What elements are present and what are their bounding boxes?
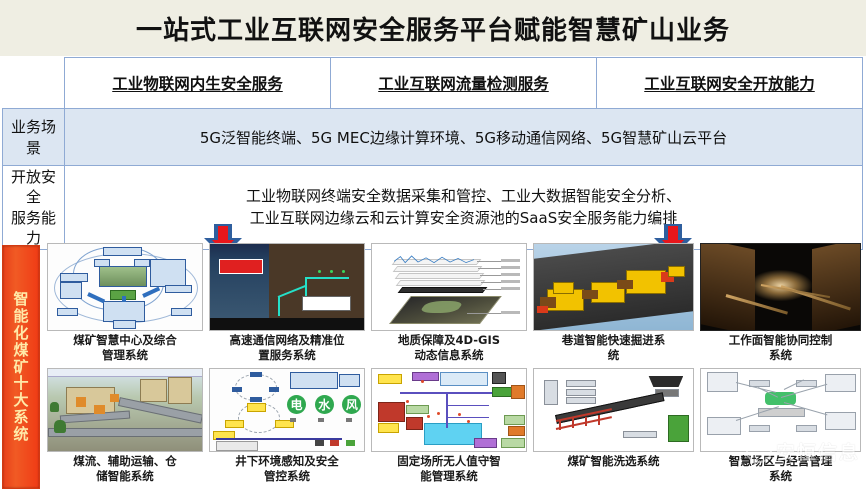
thumb-coal-washing[interactable] [533, 368, 694, 452]
gallery-item-smart-park[interactable]: 智慧场区与经营管理 系统 [697, 368, 864, 488]
gallery-item-comm-network[interactable]: 高速通信网络及精准位 置服务系统 [206, 243, 368, 368]
caption-geology-gis-line2: 动态信息系统 [368, 348, 530, 363]
slide-root: 一站式工业互联网安全服务平台赋能智慧矿山业务 工业物联网内生安全服务 工业互联网… [0, 0, 866, 489]
caption-tunneling-line2: 统 [530, 348, 697, 363]
table-row-open-security: 开放安全 服务能力 工业物联网终端安全数据采集和管控、工业大数据智能安全分析、 … [3, 166, 863, 250]
caption-coal-transport: 煤流、辅助运输、仓 储智能系统 [44, 452, 206, 484]
env-circle-electric: 电 [287, 395, 306, 414]
thumb-workface-control[interactable] [700, 243, 861, 331]
vbanner-char-3: 煤 [13, 342, 28, 359]
caption-unattended-site-line2: 能管理系统 [368, 469, 530, 484]
caption-env-sensing: 井下环境感知及安全 管控系统 [206, 452, 368, 484]
caption-smart-center-line1: 煤矿智慧中心及综合 [44, 333, 206, 348]
caption-comm-network: 高速通信网络及精准位 置服务系统 [206, 331, 368, 363]
caption-coal-transport-line2: 储智能系统 [44, 469, 206, 484]
row-value-open-security: 工业物联网终端安全数据采集和管控、工业大数据智能安全分析、 工业互联网边缘云和云… [65, 166, 863, 250]
gallery-item-tunneling[interactable]: 巷道智能快速掘进系 统 [530, 243, 697, 368]
caption-coal-washing: 煤矿智能洗选系统 [530, 452, 697, 469]
env-circle-water: 水 [315, 395, 334, 414]
gallery-row-1: 煤矿智慧中心及综合 管理系统 [44, 243, 864, 368]
caption-coal-transport-line1: 煤流、辅助运输、仓 [44, 454, 206, 469]
gallery-item-geology-gis[interactable]: 地质保障及4D-GIS 动态信息系统 [368, 243, 530, 368]
vbanner-char-5: 十 [13, 375, 28, 392]
caption-smart-park: 智慧场区与经营管理 系统 [697, 452, 864, 484]
table-header-col-1-text: 工业物联网内生安全服务 [112, 75, 283, 93]
vbanner-char-0: 智 [13, 291, 28, 308]
thumb-comm-network[interactable] [209, 243, 365, 331]
title-band: 一站式工业互联网安全服务平台赋能智慧矿山业务 [0, 0, 866, 57]
caption-workface-control-line1: 工作面智能协同控制 [697, 333, 864, 348]
table-header-row: 工业物联网内生安全服务 工业互联网流量检测服务 工业互联网安全开放能力 [3, 58, 863, 109]
row-label-business-scene: 业务场景 [3, 109, 65, 166]
art-4d-gis-layers [372, 244, 526, 330]
caption-smart-center: 煤矿智慧中心及综合 管理系统 [44, 331, 206, 363]
caption-workface-control-line2: 系统 [697, 348, 864, 363]
table-header-col-1: 工业物联网内生安全服务 [65, 58, 331, 109]
gallery-item-env-sensing[interactable]: 电 水 风 井下环境感知及安全 管控系统 [206, 368, 368, 488]
caption-coal-washing-line1: 煤矿智能洗选系统 [530, 454, 697, 469]
art-smart-park-topology [701, 369, 860, 451]
caption-smart-park-line2: 系统 [697, 469, 864, 484]
thumb-env-sensing[interactable]: 电 水 风 [209, 368, 365, 452]
row-label-open-security-line2: 服务能力 [4, 208, 63, 249]
thumb-geology-gis[interactable] [371, 243, 527, 331]
caption-workface-control: 工作面智能协同控制 系统 [697, 331, 864, 363]
table-header-col-3: 工业互联网安全开放能力 [597, 58, 863, 109]
vertical-banner-smart-coal-mine: 智 能 化 煤 矿 十 大 系 统 [2, 245, 40, 489]
vbanner-char-2: 化 [13, 325, 28, 342]
table-corner-cell [3, 58, 65, 109]
art-env-sensing-diagram: 电 水 风 [210, 369, 364, 451]
gallery-item-coal-transport[interactable]: 煤流、辅助运输、仓 储智能系统 [44, 368, 206, 488]
row-value-open-security-line1: 工业物联网终端安全数据采集和管控、工业大数据智能安全分析、 [66, 186, 861, 208]
vbanner-char-6: 大 [13, 392, 28, 409]
gallery-item-workface-control[interactable]: 工作面智能协同控制 系统 [697, 243, 864, 368]
vbanner-char-4: 矿 [13, 359, 28, 376]
row-value-open-security-line2: 工业互联网边缘云和云计算安全资源池的SaaS安全服务能力编排 [66, 208, 861, 230]
row-label-open-security-line1: 开放安全 [4, 167, 63, 208]
page-title: 一站式工业互联网安全服务平台赋能智慧矿山业务 [136, 10, 730, 47]
thumb-smart-center[interactable] [47, 243, 203, 331]
gallery-item-coal-washing[interactable]: 煤矿智能洗选系统 [530, 368, 697, 488]
table-row-business-scene: 业务场景 5G泛智能终端、5G MEC边缘计算环境、5G移动通信网络、5G智慧矿… [3, 109, 863, 166]
caption-comm-network-line2: 置服务系统 [206, 348, 368, 363]
vbanner-char-7: 系 [13, 409, 28, 426]
gallery-item-unattended-site[interactable]: 固定场所无人值守智 能管理系统 [368, 368, 530, 488]
caption-tunneling: 巷道智能快速掘进系 统 [530, 331, 697, 363]
caption-smart-center-line2: 管理系统 [44, 348, 206, 363]
caption-env-sensing-line1: 井下环境感知及安全 [206, 454, 368, 469]
art-coal-transport-scene [48, 369, 202, 451]
gallery-item-smart-center[interactable]: 煤矿智慧中心及综合 管理系统 [44, 243, 206, 368]
caption-tunneling-line1: 巷道智能快速掘进系 [530, 333, 697, 348]
art-unattended-site-diagram [372, 369, 526, 451]
caption-geology-gis-line1: 地质保障及4D-GIS [368, 333, 530, 348]
capability-table: 工业物联网内生安全服务 工业互联网流量检测服务 工业互联网安全开放能力 业务场景… [2, 57, 863, 250]
caption-geology-gis: 地质保障及4D-GIS 动态信息系统 [368, 331, 530, 363]
row-label-open-security: 开放安全 服务能力 [3, 166, 65, 250]
thumb-unattended-site[interactable] [371, 368, 527, 452]
thumb-coal-transport[interactable] [47, 368, 203, 452]
caption-smart-park-line1: 智慧场区与经营管理 [697, 454, 864, 469]
caption-unattended-site: 固定场所无人值守智 能管理系统 [368, 452, 530, 484]
art-coal-washing-plant [534, 369, 693, 451]
caption-env-sensing-line2: 管控系统 [206, 469, 368, 484]
gallery-row-2: 煤流、辅助运输、仓 储智能系统 [44, 368, 864, 488]
thumb-smart-park[interactable] [700, 368, 861, 452]
row-value-business-scene: 5G泛智能终端、5G MEC边缘计算环境、5G移动通信网络、5G智慧矿山云平台 [65, 109, 863, 166]
art-underground-navigation [210, 244, 364, 330]
env-circle-wind: 风 [342, 395, 361, 414]
art-tunneling-machines [534, 244, 693, 330]
table-header-col-2: 工业互联网流量检测服务 [331, 58, 597, 109]
thumb-tunneling[interactable] [533, 243, 694, 331]
table-header-col-3-text: 工业互联网安全开放能力 [644, 75, 815, 93]
vbanner-char-1: 能 [13, 308, 28, 325]
table-header-col-2-text: 工业互联网流量检测服务 [378, 75, 549, 93]
caption-unattended-site-line1: 固定场所无人值守智 [368, 454, 530, 469]
caption-comm-network-line1: 高速通信网络及精准位 [206, 333, 368, 348]
art-network-diagram [48, 244, 202, 330]
art-dark-tunnel [701, 244, 860, 330]
vbanner-char-8: 统 [13, 426, 28, 443]
system-gallery: 煤矿智慧中心及综合 管理系统 [44, 243, 864, 489]
